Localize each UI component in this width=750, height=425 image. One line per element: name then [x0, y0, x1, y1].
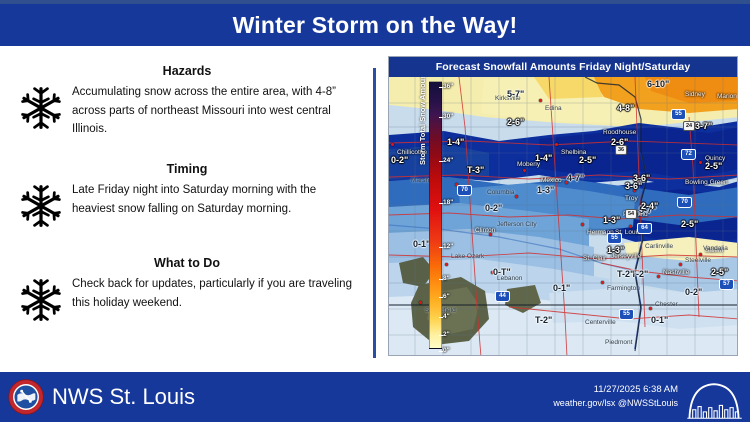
interstate-shield-55b: 55 — [607, 233, 622, 244]
snow-amount-label: 4-8" — [617, 103, 634, 113]
snow-amount-label: 6-10" — [647, 79, 669, 89]
section-text-what-to-do: Check back for updates, particularly if … — [72, 275, 360, 312]
colorbar-tick: 12" — [443, 243, 453, 250]
snow-amount-label: 0-2" — [391, 155, 408, 165]
snow-amount-label: 2-5" — [579, 155, 596, 165]
snow-amount-label: 1-4" — [447, 137, 464, 147]
us-route-shield-36: 36 — [615, 145, 627, 155]
interstate-shield-44: 44 — [495, 291, 510, 302]
city-dot — [445, 263, 448, 266]
colorbar-tick: 18" — [443, 199, 453, 206]
city-dot — [699, 161, 702, 164]
snowflake-icon — [18, 183, 64, 229]
us-route-shield-24: 24 — [683, 121, 695, 131]
city-label: Carlinville — [645, 243, 673, 250]
section-text-timing: Late Friday night into Saturday morning … — [72, 181, 360, 218]
interstate-shield-72: 72 — [681, 149, 696, 160]
colorbar-tick: 30" — [443, 113, 453, 120]
section-title-timing: Timing — [0, 162, 374, 176]
interstate-shield-57: 57 — [719, 279, 734, 290]
timestamp: 11/27/2025 6:38 AM — [553, 383, 678, 397]
section-title-hazards: Hazards — [0, 64, 374, 78]
city-label: Bowling Green — [685, 179, 728, 186]
snowflake-icon — [18, 277, 64, 323]
city-label: Clinton — [475, 227, 495, 234]
city-dot — [699, 253, 702, 256]
snow-amount-label: 0-1" — [651, 315, 668, 325]
city-dot — [581, 223, 584, 226]
gateway-arch-icon — [682, 376, 746, 420]
snow-amount-label: 0-2" — [485, 203, 502, 213]
colorbar-tick: 36" — [443, 83, 453, 90]
city-label: Chester — [655, 301, 678, 308]
city-label: Farmington — [607, 285, 640, 292]
snowfall-forecast-map[interactable]: Storm Total Snow Amounts (in) 36" 30" 24… — [388, 56, 738, 356]
city-dot — [629, 225, 632, 228]
interstate-shield-70: 70 — [457, 185, 472, 196]
panel-divider — [373, 68, 376, 358]
snow-amount-label: T-3" — [467, 165, 484, 175]
city-dot — [555, 143, 558, 146]
snow-amount-label: 5-7" — [507, 89, 524, 99]
interstate-shield-64: 64 — [637, 223, 652, 234]
section-title-what-to-do: What to Do — [0, 256, 374, 270]
snow-amount-label: 2-6" — [507, 117, 524, 127]
snow-amount-label: 1-3" — [537, 185, 554, 195]
city-dot — [649, 307, 652, 310]
us-route-shield-54: 54 — [625, 209, 637, 219]
city-label: Roodhouse — [603, 129, 636, 136]
snow-amount-label: 2-5" — [705, 161, 722, 171]
snow-amount-label: T-2" — [535, 315, 552, 325]
snow-amount-label: 1-3" — [603, 215, 620, 225]
nws-seal-icon — [8, 379, 44, 415]
colorbar-tick: 0" — [443, 347, 450, 354]
city-dot — [601, 281, 604, 284]
map-title: Forecast Snowfall Amounts Friday Night/S… — [436, 61, 691, 73]
snow-amount-label: 3-7" — [695, 121, 712, 131]
city-label: Jefferson City — [497, 221, 537, 228]
city-label: Troy — [625, 195, 638, 202]
city-label: St. Clair — [583, 255, 606, 262]
snow-amount-label: 0-T" — [493, 267, 511, 277]
city-dot — [523, 169, 526, 172]
snow-amount-colorbar — [429, 81, 442, 349]
snow-amount-label: 1-3" — [607, 245, 624, 255]
footer-bar: NWS St. Louis 11/27/2025 6:38 AM weather… — [0, 372, 750, 422]
snow-amount-label: 2-4" — [641, 201, 658, 211]
header-banner: Winter Storm on the Way! — [0, 4, 750, 46]
winter-storm-graphic: Winter Storm on the Way! Hazards — [0, 0, 750, 422]
city-label: Centerville — [585, 319, 616, 326]
footer-links: weather.gov/lsx @NWSStLouis — [553, 397, 678, 410]
city-label: Mexico — [541, 177, 562, 184]
snow-amount-label: 0-1" — [553, 283, 570, 293]
city-label: Vandalia — [703, 245, 728, 252]
colorbar-tick: 8" — [443, 275, 450, 282]
snow-amount-label: 2-5" — [681, 219, 698, 229]
city-dot — [679, 263, 682, 266]
colorbar-tick: 6" — [443, 293, 450, 300]
colorbar-tick: 2" — [443, 331, 450, 338]
city-dot — [539, 99, 542, 102]
snow-amount-label: T-2" — [617, 269, 634, 279]
city-dot — [489, 233, 492, 236]
city-label: Lake Ozark — [451, 253, 484, 260]
info-panel: Hazards — [0, 50, 374, 370]
city-label: Sidney — [685, 91, 705, 98]
section-timing: Timing — [0, 162, 374, 229]
section-what-to-do: What to Do — [0, 256, 374, 323]
snow-amount-label: 1-4" — [535, 153, 552, 163]
snowflake-icon — [18, 85, 64, 131]
city-label: Columbia — [487, 189, 514, 196]
snow-amount-label: 0-1" — [413, 239, 430, 249]
snow-amount-label: 2-5" — [711, 267, 728, 277]
city-label: Nashville — [663, 269, 689, 276]
city-label: Edina — [545, 105, 562, 112]
interstate-shield-55: 55 — [671, 109, 686, 120]
interstate-shield-70: 70 — [677, 197, 692, 208]
city-label: Marion — [717, 93, 737, 100]
section-text-hazards: Accumulating snow across the entire area… — [72, 83, 360, 139]
footer-meta: 11/27/2025 6:38 AM weather.gov/lsx @NWSS… — [553, 383, 678, 410]
snow-amount-label: 0-2" — [685, 287, 702, 297]
office-name: NWS St. Louis — [52, 384, 195, 410]
city-dot — [657, 275, 660, 278]
colorbar-tick: 4" — [443, 313, 450, 320]
page-title: Winter Storm on the Way! — [233, 12, 518, 39]
colorbar-tick: 24" — [443, 157, 453, 164]
snow-amount-label: 3-6" — [625, 181, 642, 191]
snow-amount-label: 4-7" — [567, 173, 584, 183]
city-label: Steelville — [685, 257, 711, 264]
city-dot — [391, 143, 394, 146]
city-dot — [419, 301, 422, 304]
city-dot — [515, 195, 518, 198]
city-label: Piedmont — [605, 339, 632, 346]
section-hazards: Hazards — [0, 64, 374, 139]
interstate-shield-55: 55 — [619, 309, 634, 320]
map-title-bar: Forecast Snowfall Amounts Friday Night/S… — [389, 57, 737, 77]
